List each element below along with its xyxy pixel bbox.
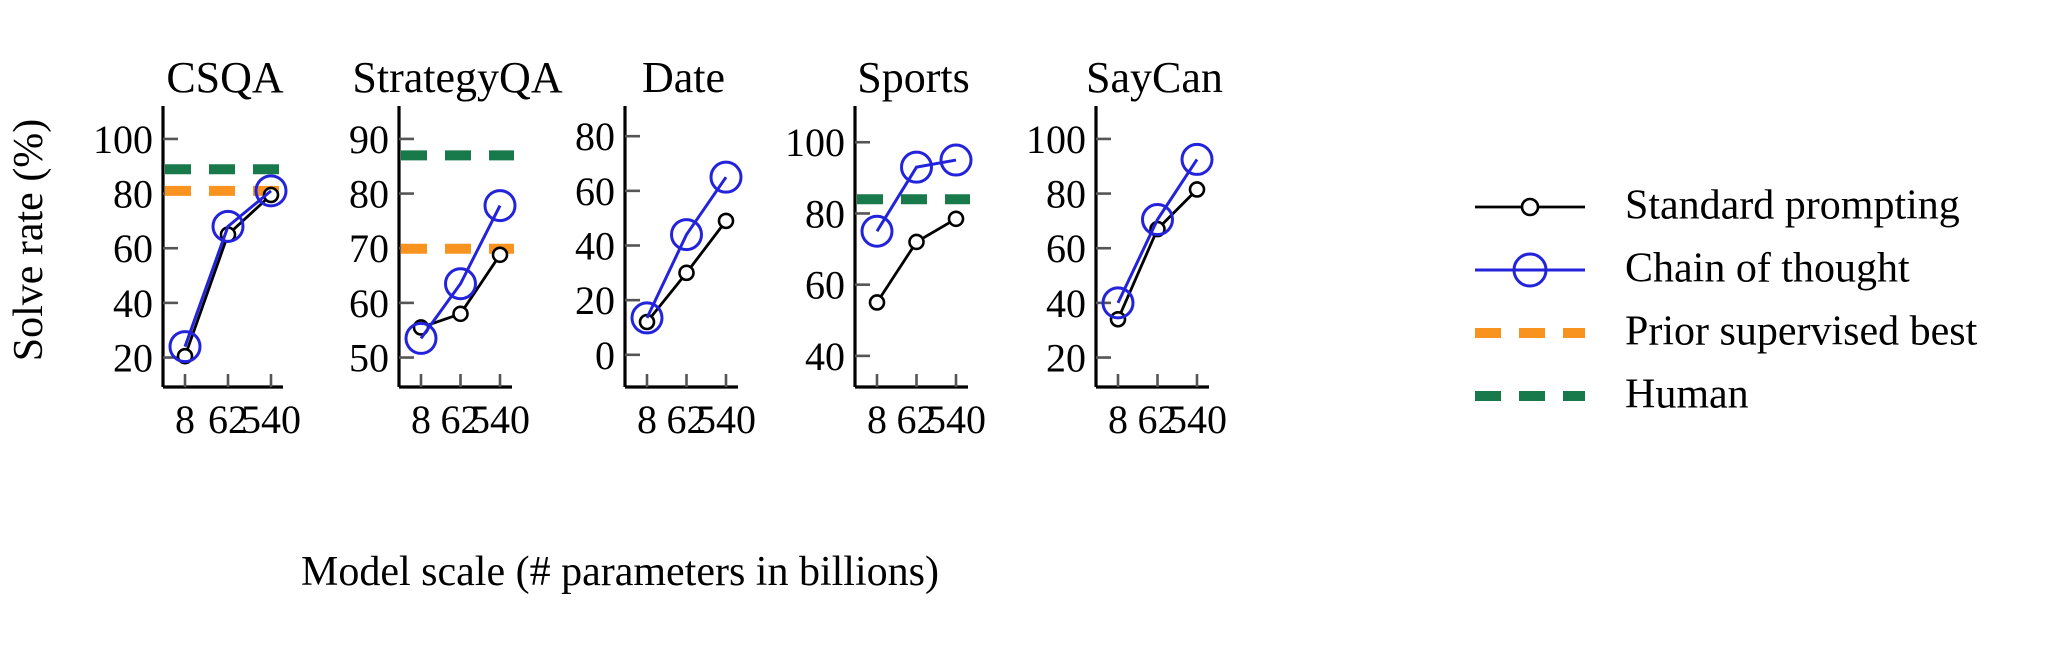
legend-swatch-circle-icon — [1522, 199, 1538, 215]
y-tick-label: 100 — [785, 120, 845, 165]
data-point-marker — [949, 212, 963, 226]
y-tick-label: 40 — [805, 334, 845, 379]
panel-saycan: SayCan20406080100862540 — [1026, 53, 1227, 442]
legend-item-prior-supervised-best[interactable]: Prior supervised best — [1475, 309, 1978, 355]
data-point-marker — [719, 214, 733, 228]
y-tick-label: 50 — [349, 336, 389, 381]
legend-item-standard-prompting[interactable]: Standard prompting — [1475, 183, 1960, 229]
panel-date: Date020406080862540 — [575, 53, 756, 442]
data-point-marker — [1190, 182, 1204, 196]
x-axis-label: Model scale (# parameters in billions) — [301, 549, 939, 595]
y-tick-label: 90 — [349, 117, 389, 162]
legend-label: Human — [1625, 372, 1749, 418]
legend-label: Standard prompting — [1625, 183, 1960, 229]
panel-title: SayCan — [1086, 53, 1223, 102]
legend-label: Chain of thought — [1625, 246, 1910, 292]
series-line-standard-prompting — [877, 219, 956, 303]
y-tick-label: 70 — [349, 226, 389, 271]
panel-strategyqa: StrategyQA5060708090862540 — [349, 53, 563, 442]
legend-item-chain-of-thought[interactable]: Chain of thought — [1475, 246, 1910, 292]
legend-group: Standard promptingChain of thoughtPrior … — [1475, 183, 1978, 418]
data-point-marker — [680, 266, 694, 280]
panel-title: StrategyQA — [352, 53, 562, 102]
figure-container: CSQA20406080100862540StrategyQA506070809… — [0, 0, 2048, 647]
panels-group: CSQA20406080100862540StrategyQA506070809… — [93, 53, 1227, 442]
x-tick-label: 8 — [411, 397, 431, 442]
y-tick-label: 20 — [1046, 336, 1086, 381]
multi-panel-line-chart: CSQA20406080100862540StrategyQA506070809… — [0, 0, 2048, 647]
y-tick-label: 60 — [113, 226, 153, 271]
y-tick-label: 80 — [575, 114, 615, 159]
data-point-marker — [493, 248, 507, 262]
data-point-marker — [870, 295, 884, 309]
x-tick-label: 8 — [867, 397, 887, 442]
x-tick-label: 8 — [637, 397, 657, 442]
x-tick-label: 8 — [175, 397, 195, 442]
x-tick-label: 8 — [1108, 397, 1128, 442]
panel-csqa: CSQA20406080100862540 — [93, 53, 301, 442]
data-point-marker — [910, 235, 924, 249]
y-tick-label: 40 — [113, 281, 153, 326]
panel-title: Date — [642, 53, 725, 102]
y-tick-label: 40 — [1046, 281, 1086, 326]
y-tick-label: 100 — [93, 117, 153, 162]
y-tick-label: 80 — [805, 191, 845, 236]
y-tick-label: 100 — [1026, 117, 1086, 162]
x-tick-label: 540 — [926, 397, 986, 442]
data-point-marker — [454, 307, 468, 321]
x-tick-label: 540 — [1167, 397, 1227, 442]
y-tick-label: 60 — [349, 281, 389, 326]
x-tick-label: 540 — [241, 397, 301, 442]
y-tick-label: 20 — [575, 278, 615, 323]
x-tick-label: 540 — [470, 397, 530, 442]
legend-item-human[interactable]: Human — [1475, 372, 1749, 418]
y-tick-label: 40 — [575, 224, 615, 269]
series-line-standard-prompting — [1118, 189, 1197, 319]
series-line-chain-of-thought — [647, 177, 726, 318]
legend-label: Prior supervised best — [1625, 309, 1978, 355]
y-tick-label: 0 — [595, 333, 615, 378]
series-line-standard-prompting — [185, 195, 271, 356]
y-tick-label: 60 — [805, 263, 845, 308]
y-tick-label: 80 — [349, 172, 389, 217]
panel-title: Sports — [857, 53, 969, 102]
y-tick-label: 80 — [113, 172, 153, 217]
panel-title: CSQA — [166, 53, 284, 102]
y-tick-label: 60 — [575, 169, 615, 214]
y-axis-label: Solve rate (%) — [6, 119, 52, 362]
y-tick-label: 80 — [1046, 172, 1086, 217]
x-tick-label: 540 — [696, 397, 756, 442]
y-tick-label: 20 — [113, 336, 153, 381]
panel-sports: Sports406080100862540 — [785, 53, 986, 442]
y-tick-label: 60 — [1046, 226, 1086, 271]
